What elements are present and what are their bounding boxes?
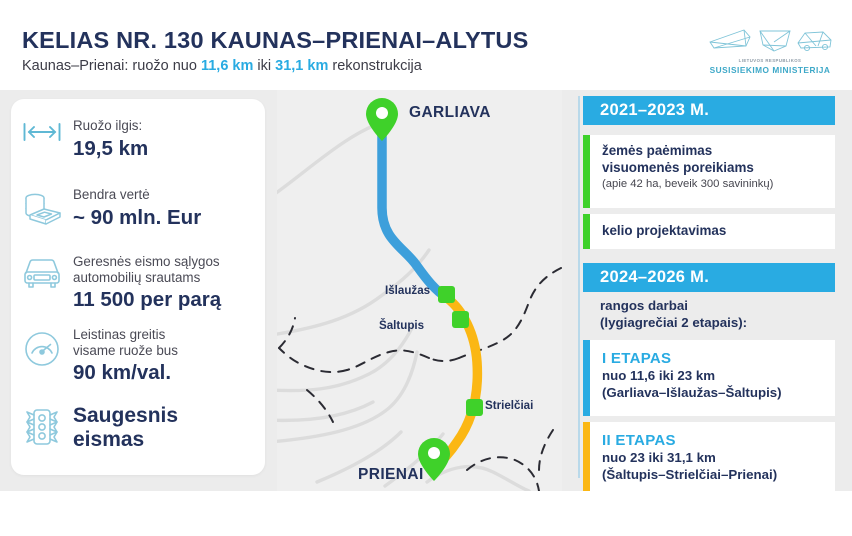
timeline-item-bar-green-1 [583, 135, 590, 208]
map-label-prienai: PRIENAI [358, 466, 424, 484]
timeline-item-land-acquisition-title-2: visuomenės poreikiams [602, 160, 835, 177]
timeline-panel: 2021–2023 M. žemės paėmimas visuomenės p… [566, 90, 852, 491]
stat-safer-traffic: Saugesnis eismas [11, 404, 265, 452]
timeline-item-etapas-1-title: I ETAPAS [602, 350, 835, 368]
stat-route-length-body: Ruožo ilgis: 19,5 km [73, 118, 265, 160]
route-segment-phase1 [382, 128, 447, 298]
map-marker-strielciai [466, 399, 483, 416]
stat-traffic-flow-label-2: automobilių srautams [73, 270, 265, 286]
header: KELIAS NR. 130 KAUNAS–PRIENAI–ALYTUS Kau… [0, 0, 852, 90]
phase-header-2024-2026: 2024–2026 M. [583, 263, 835, 292]
stat-route-length-label: Ruožo ilgis: [73, 118, 265, 134]
car-front-icon [11, 254, 73, 292]
ministry-logo: LIETUVOS RESPUBLIKOS SUSISIEKIMO MINISTE… [706, 24, 834, 82]
timeline-item-land-acquisition-sub: (apie 42 ha, beveik 300 savininkų) [602, 177, 835, 191]
map-label-strielciai: Strielčiai [485, 399, 533, 412]
map-label-saltupis: Šaltupis [379, 319, 424, 332]
map-panel: GARLIAVA PRIENAI Išlaužas Šaltupis Strie… [277, 90, 562, 491]
subtitle-part-2: iki [253, 58, 275, 74]
page-subtitle: Kaunas–Prienai: ruožo nuo 11,6 km iki 31… [22, 58, 422, 74]
subtitle-part-1: Kaunas–Prienai: ruožo nuo [22, 58, 201, 74]
map-marker-islauzas [438, 286, 455, 303]
timeline-item-etapas-2-towns: (Šaltupis–Strielčiai–Prienai) [602, 467, 835, 484]
timeline-item-road-design: kelio projektavimas [583, 214, 835, 249]
stat-traffic-flow: Geresnės eismo sąlygos automobilių sraut… [11, 254, 265, 311]
timeline-item-bar-green-2 [583, 214, 590, 249]
stat-traffic-flow-label-1: Geresnės eismo sąlygos [73, 254, 265, 270]
money-stack-icon [11, 187, 73, 229]
map-marker-saltupis [452, 311, 469, 328]
phase-header-2021-2023: 2021–2023 M. [583, 96, 835, 125]
timeline-item-etapas-1-range: nuo 11,6 iki 23 km [602, 368, 835, 385]
subtitle-part-3: rekonstrukcija [328, 58, 421, 74]
stat-speed-limit-value: 90 km/val. [73, 361, 265, 384]
stat-traffic-flow-value: 11 500 per parą [73, 288, 265, 311]
subtitle-highlight-end-km: 31,1 km [275, 58, 328, 74]
stat-speed-limit-label-2: visame ruože bus [73, 343, 265, 359]
stat-speed-limit-body: Leistinas greitis visame ruože bus 90 km… [73, 327, 265, 384]
stat-safer-traffic-line-1: Saugesnis [73, 404, 265, 428]
timeline-item-etapas-2: II ETAPAS nuo 23 iki 31,1 km (Šaltupis–S… [583, 422, 835, 491]
map-label-islauzas: Išlaužas [385, 284, 430, 297]
timeline-item-etapas-2-title: II ETAPAS [602, 432, 835, 450]
map-pin-garliava [366, 98, 398, 141]
logo-text-line2: SUSISIEKIMO MINISTERIJA [706, 65, 834, 75]
stat-safer-traffic-line-2: eismas [73, 428, 265, 452]
stat-speed-limit: Leistinas greitis visame ruože bus 90 km… [11, 327, 265, 384]
timeline-item-bar-blue [583, 340, 590, 416]
infographic-root: KELIAS NR. 130 KAUNAS–PRIENAI–ALYTUS Kau… [0, 0, 852, 491]
timeline-rail [578, 96, 580, 478]
timeline-item-etapas-1-towns: (Garliava–Išlaužas–Šaltupis) [602, 385, 835, 402]
timeline-item-land-acquisition-text: žemės paėmimas visuomenės poreikiams (ap… [583, 135, 835, 191]
stat-total-value-amount: ~ 90 mln. Eur [73, 206, 265, 229]
page-title: KELIAS NR. 130 KAUNAS–PRIENAI–ALYTUS [22, 27, 528, 54]
stat-speed-limit-label-1: Leistinas greitis [73, 327, 265, 343]
stats-card: Ruožo ilgis: 19,5 km [11, 99, 265, 475]
double-arrow-icon [11, 118, 73, 146]
logo-text-line1: LIETUVOS RESPUBLIKOS [706, 58, 834, 63]
stat-total-value-label: Bendra vertė [73, 187, 265, 203]
logo-mark-icon [706, 24, 834, 58]
stat-total-value: Bendra vertė ~ 90 mln. Eur [11, 187, 265, 229]
phase-header-2024-2026-label: 2024–2026 M. [600, 268, 709, 287]
phase-header-2021-2023-label: 2021–2023 M. [600, 101, 709, 120]
traffic-light-icon [11, 404, 73, 448]
map-label-garliava: GARLIAVA [409, 104, 491, 122]
timeline-item-etapas-1-text: I ETAPAS nuo 11,6 iki 23 km (Garliava–Iš… [583, 340, 835, 401]
timeline-item-bar-yellow [583, 422, 590, 491]
timeline-item-etapas-2-range: nuo 23 iki 31,1 km [602, 450, 835, 467]
timeline-item-road-design-text: kelio projektavimas [583, 214, 835, 240]
phase2-note-line-1: rangos darbai [600, 298, 688, 315]
stat-safer-traffic-body: Saugesnis eismas [73, 404, 265, 452]
stat-total-value-body: Bendra vertė ~ 90 mln. Eur [73, 187, 265, 229]
timeline-item-land-acquisition: žemės paėmimas visuomenės poreikiams (ap… [583, 135, 835, 208]
timeline-item-land-acquisition-title-1: žemės paėmimas [602, 143, 835, 160]
stat-route-length: Ruožo ilgis: 19,5 km [11, 118, 265, 160]
subtitle-highlight-start-km: 11,6 km [201, 58, 253, 74]
stat-route-length-value: 19,5 km [73, 137, 265, 160]
map-minor-roads [277, 120, 529, 491]
timeline-item-road-design-title: kelio projektavimas [602, 223, 835, 240]
timeline-item-etapas-2-text: II ETAPAS nuo 23 iki 31,1 km (Šaltupis–S… [583, 422, 835, 483]
speedometer-icon [11, 327, 73, 369]
phase2-note-line-2: (lygiagrečiai 2 etapais): [600, 315, 747, 332]
timeline-item-etapas-1: I ETAPAS nuo 11,6 iki 23 km (Garliava–Iš… [583, 340, 835, 416]
stat-traffic-flow-body: Geresnės eismo sąlygos automobilių sraut… [73, 254, 265, 311]
